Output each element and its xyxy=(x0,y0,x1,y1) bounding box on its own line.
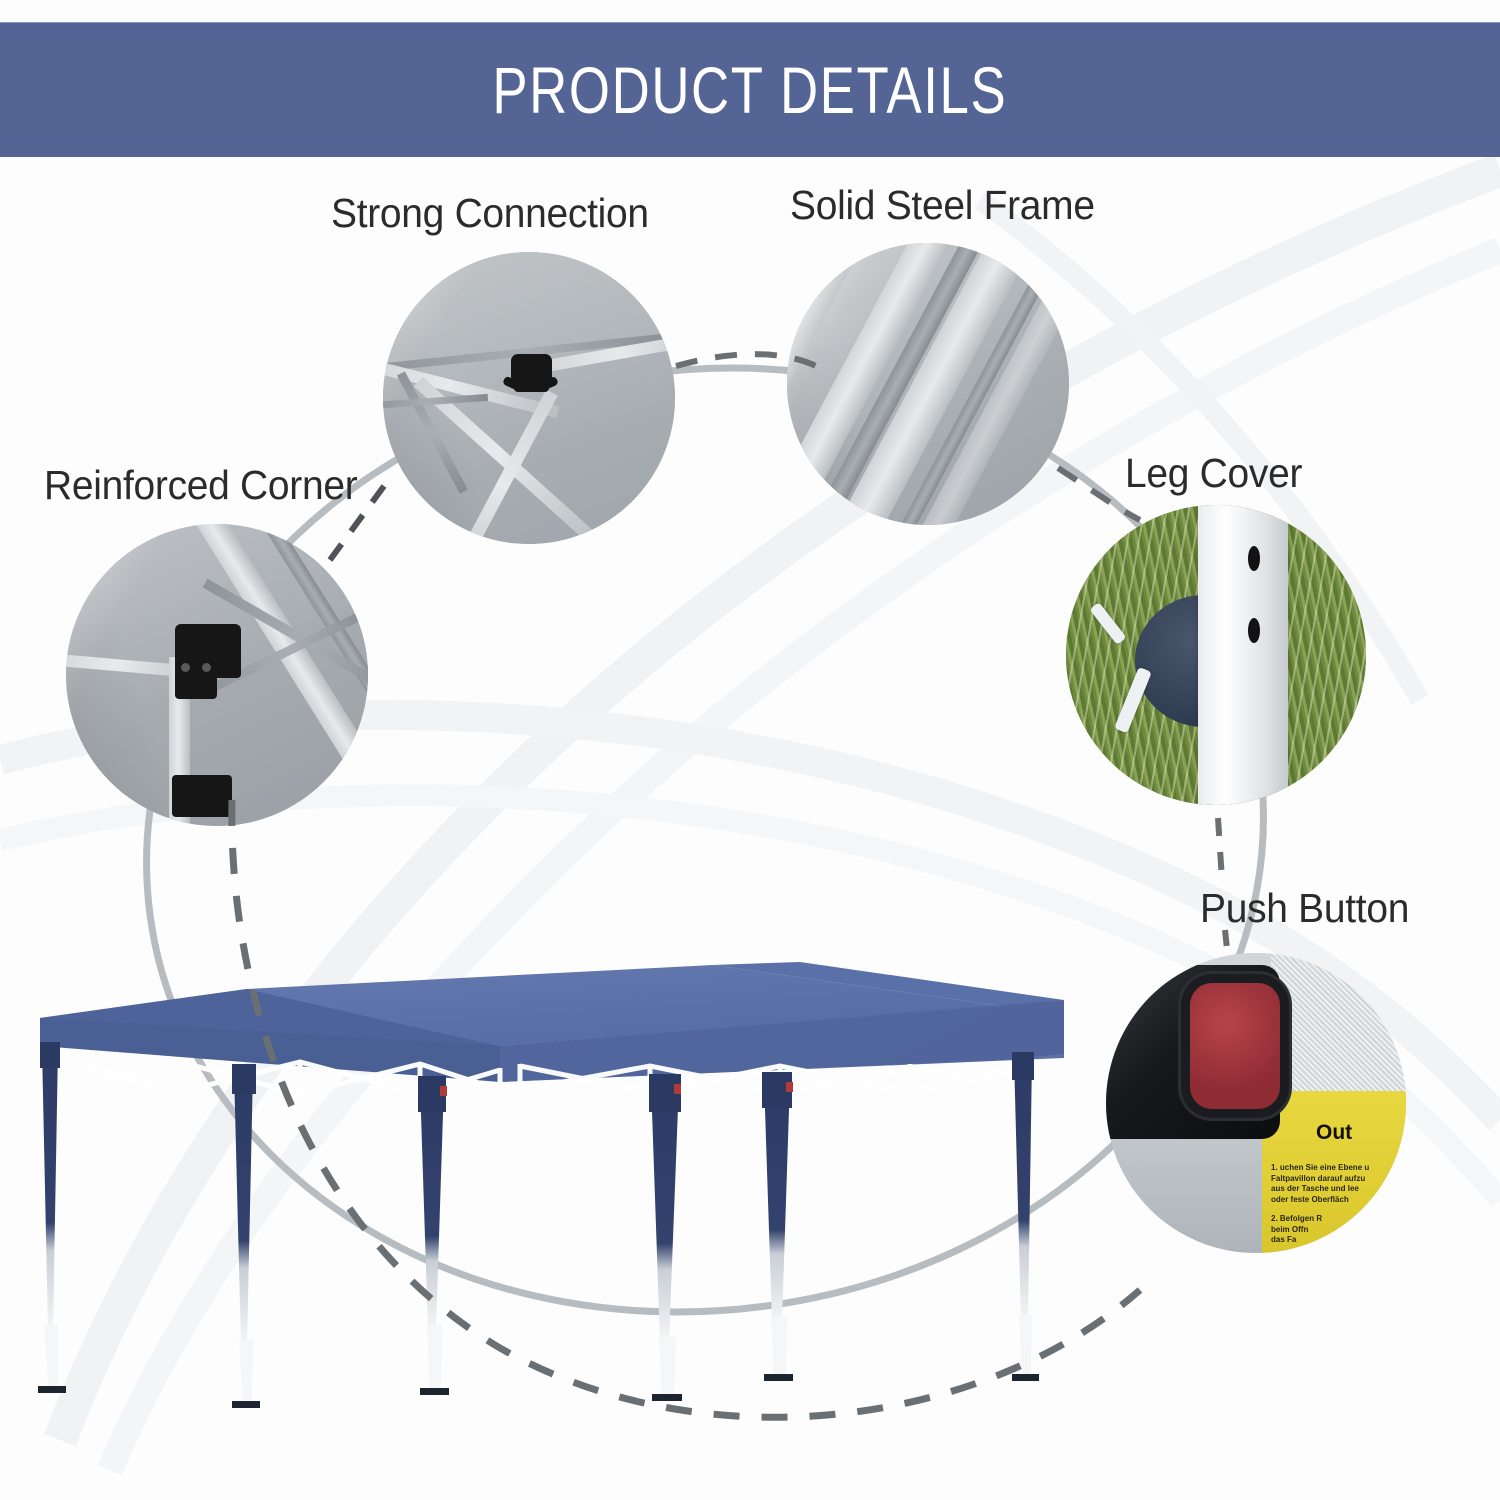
callout-label-reinforced-corner: Reinforced Corner xyxy=(44,462,357,509)
callout-label-leg-cover: Leg Cover xyxy=(1125,450,1302,497)
callout-label-solid-steel-frame: Solid Steel Frame xyxy=(790,182,1095,229)
product-gazebo xyxy=(0,0,1500,1500)
callout-label-push-button: Push Button xyxy=(1200,885,1409,932)
infographic-canvas: PRODUCT DETAILS xyxy=(0,0,1500,1500)
callout-label-strong-connection: Strong Connection xyxy=(331,190,649,237)
